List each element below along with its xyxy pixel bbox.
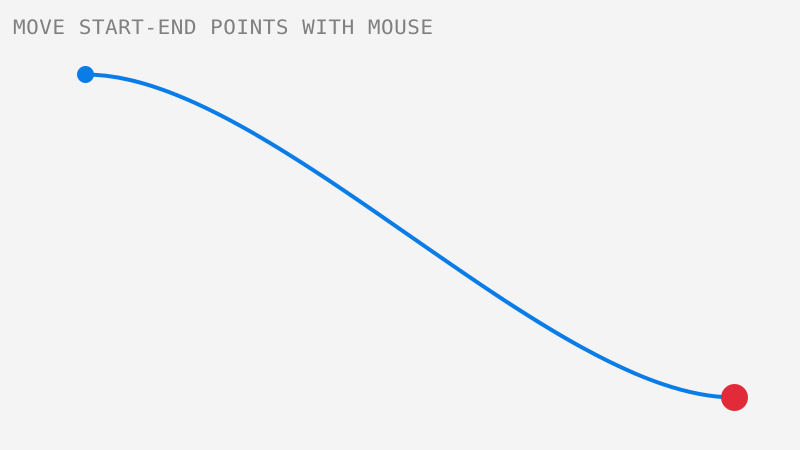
curve-stage[interactable]	[0, 0, 800, 450]
bezier-demo-canvas[interactable]: MOVE START-END POINTS WITH MOUSE	[0, 0, 800, 450]
end-point-handle[interactable]	[721, 384, 748, 411]
bezier-curve	[86, 75, 735, 398]
start-point-handle[interactable]	[77, 66, 94, 83]
